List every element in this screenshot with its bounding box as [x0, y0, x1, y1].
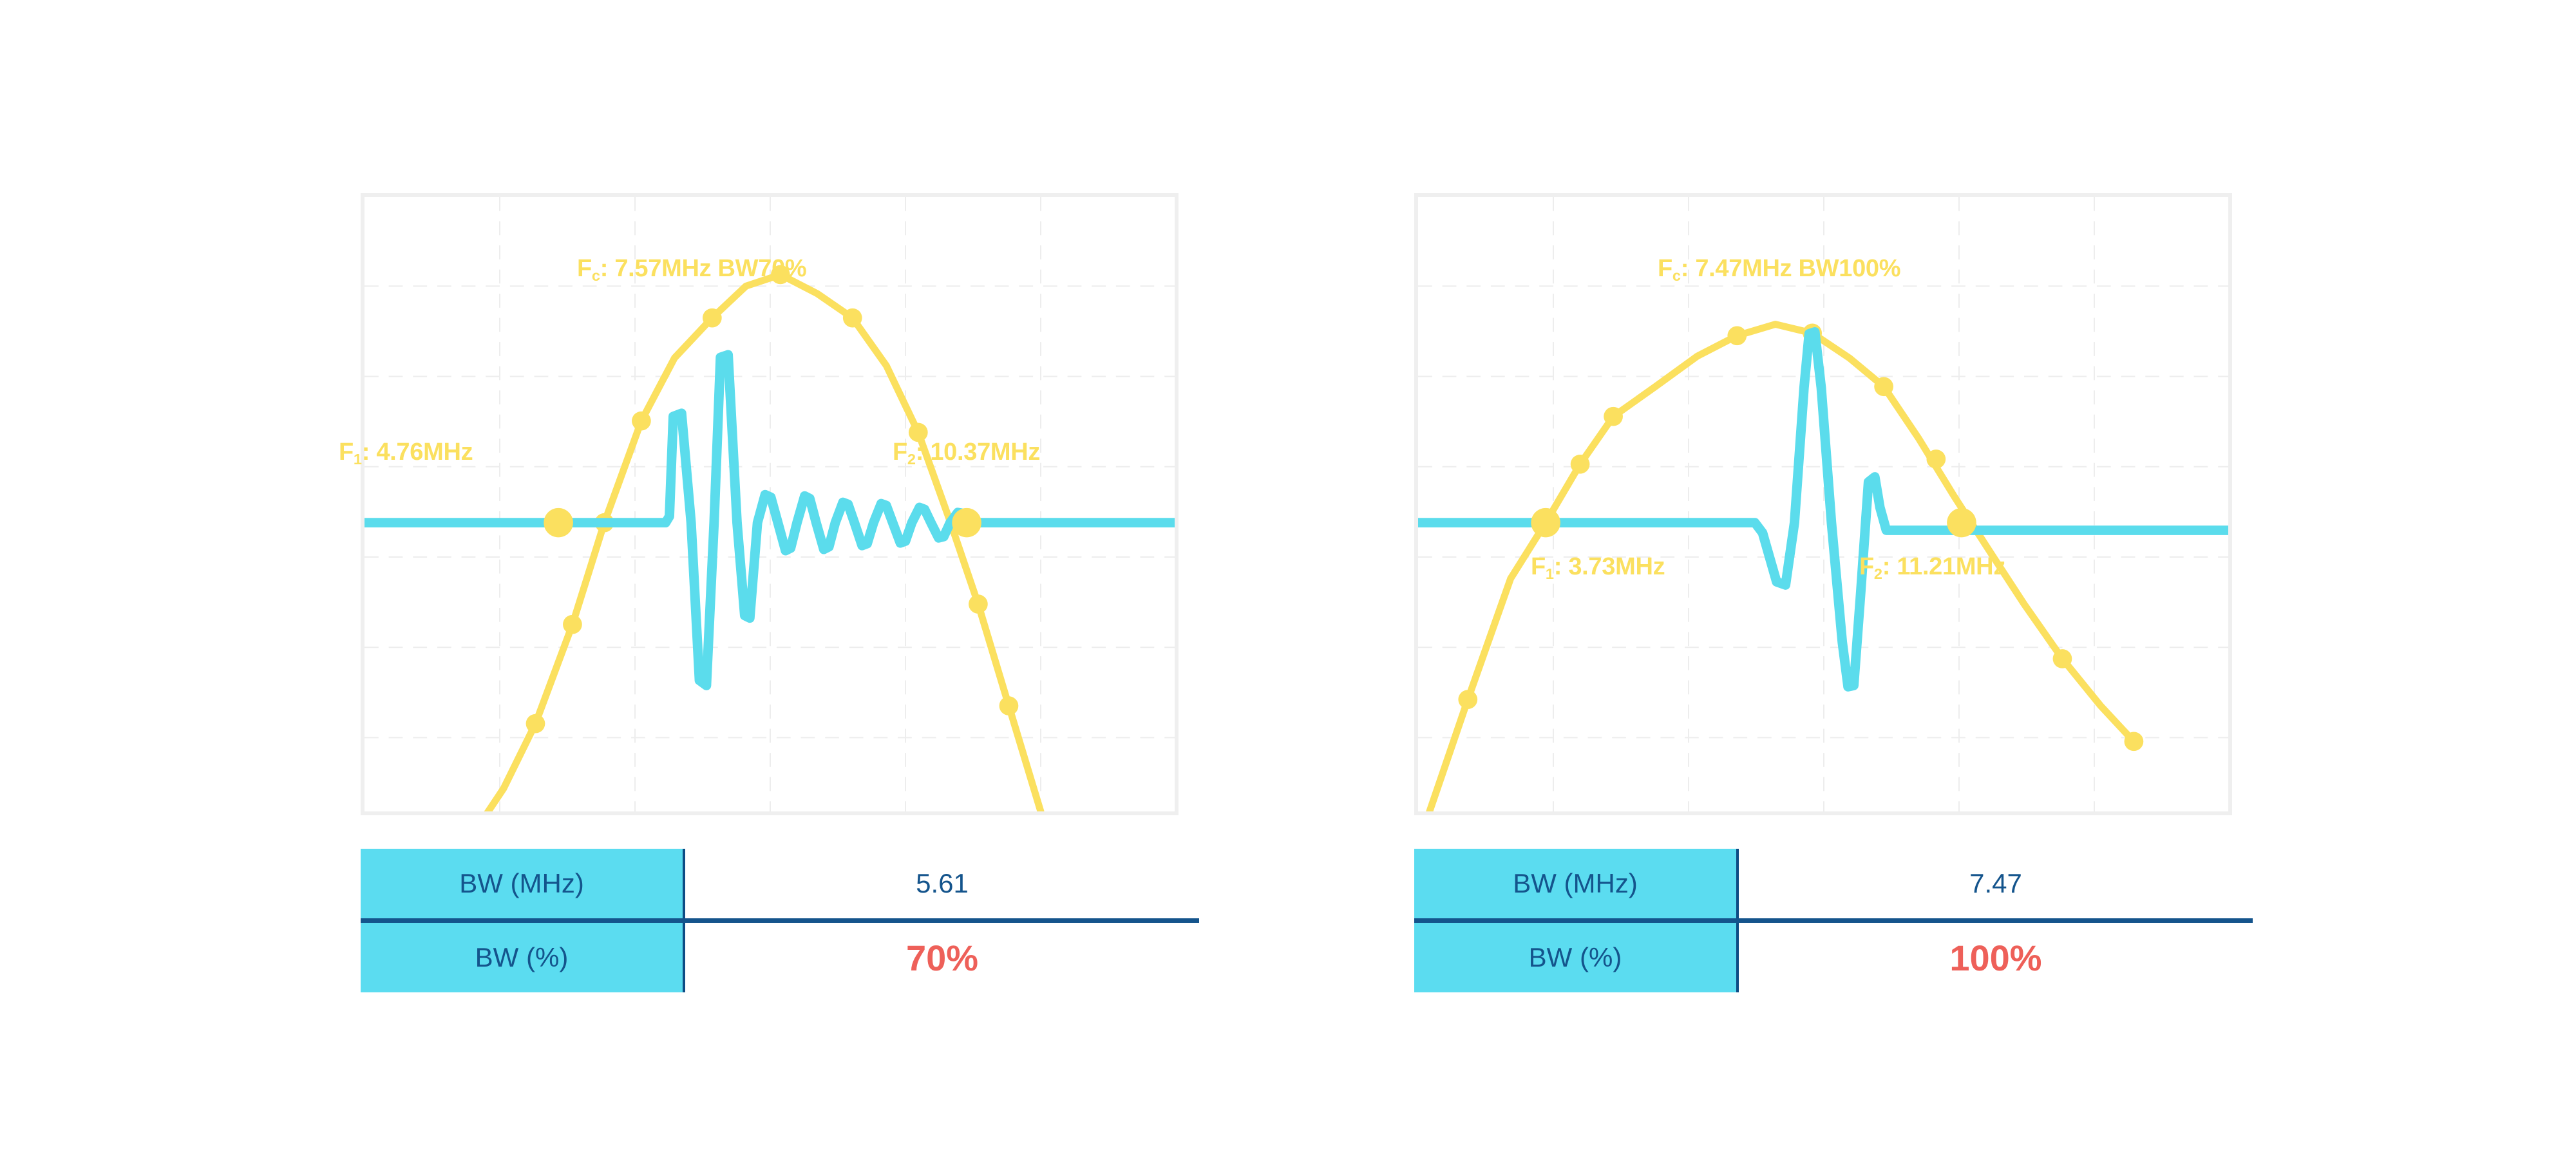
fc-prefix: F [1658, 255, 1672, 282]
bw-table-100: BW (MHz) 7.47 BW (%) 100% [1414, 849, 2253, 992]
f2-text: : 11.21MHz [1882, 553, 2005, 580]
f2-subscript: 2 [1874, 565, 1882, 582]
grid-lines-100 [1418, 197, 2228, 811]
spectrum-chart-70: Fc: 7.57MHz BW70% F1: 4.76MHz F2: 10.37M… [361, 193, 1179, 815]
label-f2-70: F2: 10.37MHz [893, 440, 1040, 464]
fc-prefix: F [577, 255, 592, 282]
f2-subscript: 2 [907, 451, 916, 468]
table-row: BW (%) 100% [1414, 921, 2253, 993]
f1-text: : 4.76MHz [362, 439, 473, 466]
table-row: BW (%) 70% [361, 921, 1199, 993]
bw-table-70: BW (MHz) 5.61 BW (%) 70% [361, 849, 1199, 992]
fc-subscript: c [1672, 267, 1681, 284]
f1-subscript: 1 [1546, 565, 1554, 582]
panel-bw70: Fc: 7.57MHz BW70% F1: 4.76MHz F2: 10.37M… [361, 193, 1179, 815]
f1-prefix: F [339, 439, 354, 466]
chart-svg-70 [365, 197, 1175, 811]
f1-text: : 3.73MHz [1554, 553, 1665, 580]
label-fc-100: Fc: 7.47MHz BW100% [1658, 256, 1900, 281]
chart-plot-area-70 [365, 197, 1175, 811]
label-fc-70: Fc: 7.57MHz BW70% [577, 256, 806, 281]
f2-marker-70 [952, 508, 981, 537]
bw-mhz-label-100: BW (MHz) [1414, 849, 1738, 921]
panel-bw100: Fc: 7.47MHz BW100% F1: 3.73MHz F2: 11.21… [1414, 193, 2232, 815]
page-canvas: Fc: 7.57MHz BW70% F1: 4.76MHz F2: 10.37M… [0, 0, 2576, 1154]
bw-pct-value-70: 70% [684, 921, 1199, 993]
f1-marker-70 [544, 508, 573, 537]
bw-mhz-value-100: 7.47 [1738, 849, 2253, 921]
fc-subscript: c [592, 267, 600, 284]
fc-text: : 7.47MHz BW100% [1681, 255, 1901, 282]
label-f1-100: F1: 3.73MHz [1531, 554, 1665, 579]
f2-marker-100 [1947, 508, 1976, 537]
fc-text: : 7.57MHz BW70% [600, 255, 807, 282]
spectrum-chart-100: Fc: 7.47MHz BW100% F1: 3.73MHz F2: 11.21… [1414, 193, 2232, 815]
bw-mhz-label-70: BW (MHz) [361, 849, 684, 921]
bw-pct-label-70: BW (%) [361, 921, 684, 993]
f2-text: : 10.37MHz [916, 439, 1040, 466]
chart-svg-100 [1418, 197, 2228, 811]
table-row: BW (MHz) 5.61 [361, 849, 1199, 921]
f1-marker-100 [1531, 508, 1560, 537]
f1-prefix: F [1531, 553, 1546, 580]
label-f2-100: F2: 11.21MHz [1859, 554, 2005, 579]
f2-prefix: F [1859, 553, 1874, 580]
label-f1-70: F1: 4.76MHz [339, 440, 473, 464]
table-row: BW (MHz) 7.47 [1414, 849, 2253, 921]
bw-mhz-value-70: 5.61 [684, 849, 1199, 921]
f2-prefix: F [893, 439, 907, 466]
f1-subscript: 1 [354, 451, 362, 468]
bw-pct-value-100: 100% [1738, 921, 2253, 993]
bw-pct-label-100: BW (%) [1414, 921, 1738, 993]
chart-plot-area-100 [1418, 197, 2228, 811]
